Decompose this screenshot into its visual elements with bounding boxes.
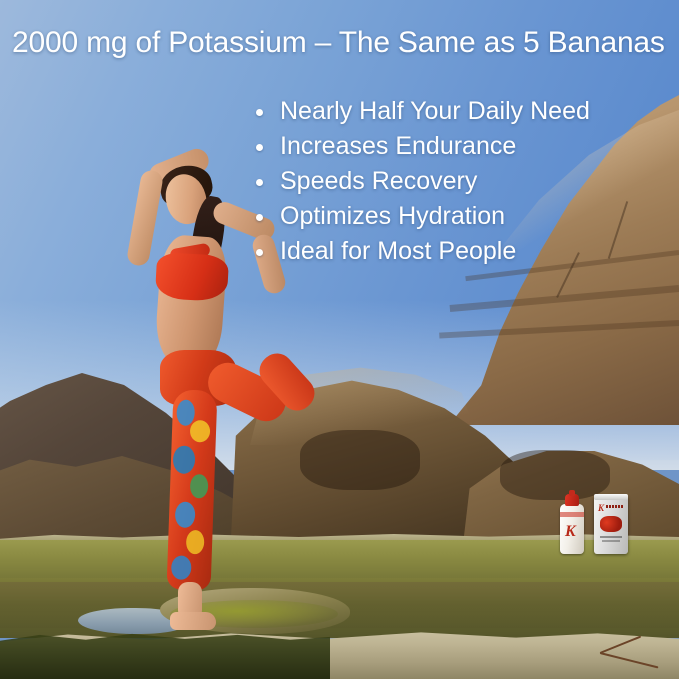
pouch-body-text [600,536,622,538]
red-sports-bra [155,252,229,302]
pouch-k-logo: K [598,504,604,513]
list-item: Optimizes Hydration [250,199,590,234]
legging-pattern [171,555,192,580]
bottle-k-logo: K [565,524,576,540]
list-item: Ideal for Most People [250,234,590,269]
list-item: Speeds Recovery [250,164,590,199]
legging-pattern [186,530,205,555]
legging-pattern [176,399,195,426]
left-arm [126,169,164,267]
bottle-nozzle [569,490,575,496]
list-item: Increases Endurance [250,129,590,164]
pouch-body-text [602,540,620,542]
product-marketing-image: K K 2000 mg of Potassium – The Same as 5… [0,0,679,679]
product-group: K K [556,492,646,554]
standing-leg [167,389,218,590]
headline: 2000 mg of Potassium – The Same as 5 Ban… [12,26,665,60]
pouch-top-seal [594,494,628,500]
bottle-label-band [560,512,584,517]
legging-pattern [175,501,196,528]
benefit-list: Nearly Half Your Daily Need Increases En… [250,94,590,269]
pouch-berry-image [600,516,622,532]
bare-foot [170,612,216,630]
legging-pattern [190,420,211,443]
pouch-brand-text [606,505,624,508]
list-item: Nearly Half Your Daily Need [250,94,590,129]
legging-pattern [190,474,209,499]
legging-pattern [173,445,196,474]
